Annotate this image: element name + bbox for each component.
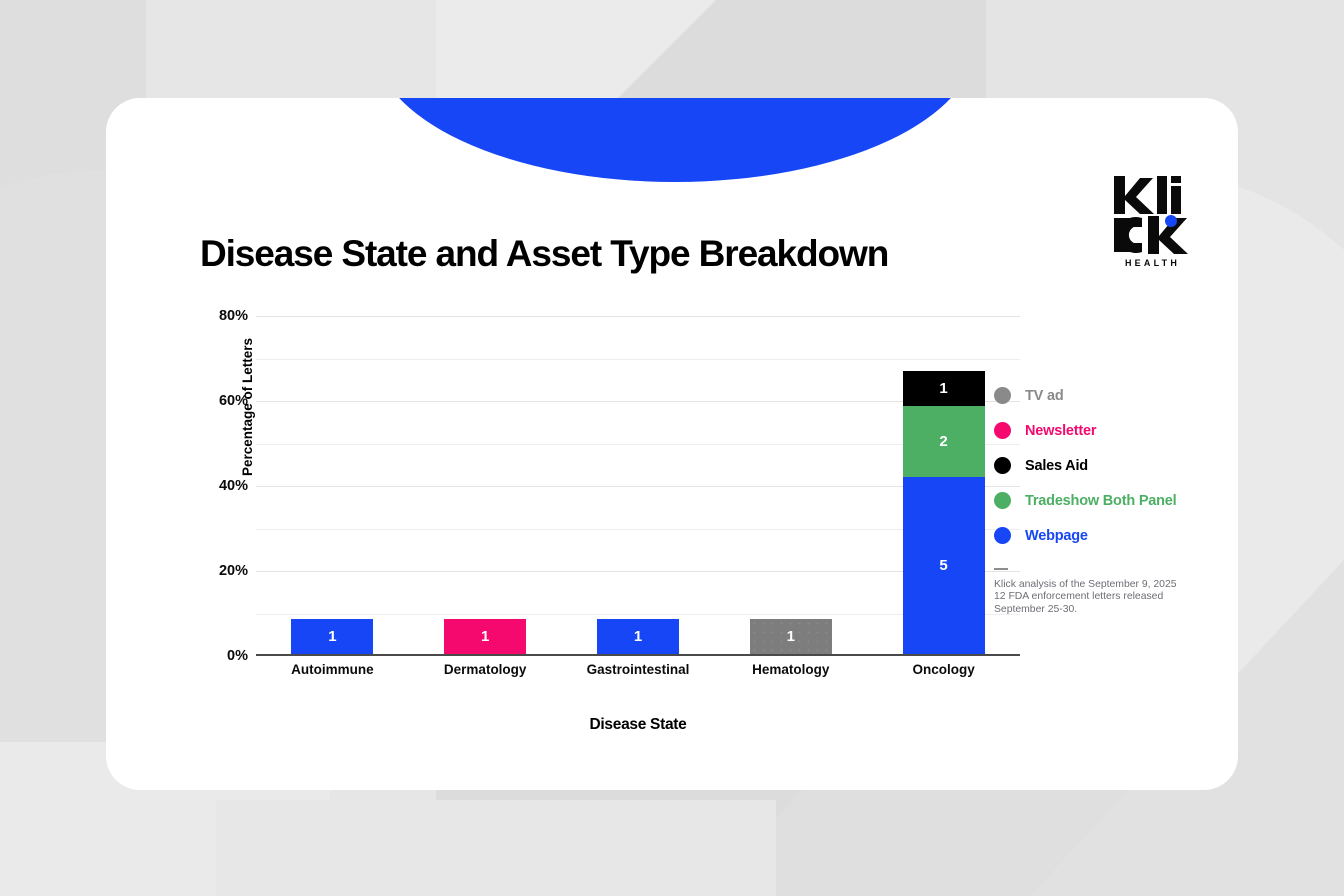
legend-item[interactable]: Newsletter <box>994 413 1224 448</box>
footnote-line: 12 FDA enforcement letters released <box>994 591 1224 604</box>
klick-logo-icon <box>1114 176 1188 254</box>
bar-value-label: 2 <box>939 433 947 450</box>
bar-segment[interactable]: 1 <box>597 619 679 654</box>
bar-series: 1111125 <box>256 316 1020 654</box>
legend-label: Tradeshow Both Panel <box>1025 493 1177 509</box>
footnote-line: Klick analysis of the September 9, 2025 <box>994 579 1224 592</box>
legend-item[interactable]: Sales Aid <box>994 448 1224 483</box>
legend-item[interactable]: TV ad <box>994 378 1224 413</box>
bar-stack[interactable]: 125 <box>903 371 985 654</box>
page-title: Disease State and Asset Type Breakdown <box>200 233 888 275</box>
x-axis-label: Disease State <box>256 716 1020 734</box>
bar-value-label: 1 <box>634 628 642 645</box>
x-tick-label: Hematology <box>714 662 867 677</box>
bar-stack[interactable]: 1 <box>750 619 832 654</box>
legend-label: Webpage <box>1025 528 1088 544</box>
legend-label: Newsletter <box>1025 423 1096 439</box>
plot-area: 1111125 <box>256 316 1020 656</box>
bar-value-label: 1 <box>481 628 489 645</box>
legend-item[interactable]: Tradeshow Both Panel <box>994 483 1224 518</box>
chart-container: Percentage of Letters 0%20%40%60%80% 111… <box>200 316 1020 776</box>
footnote: Klick analysis of the September 9, 20251… <box>994 568 1224 617</box>
bar-segment[interactable]: 1 <box>291 619 373 654</box>
bar-value-label: 1 <box>939 380 947 397</box>
bar-segment[interactable]: 2 <box>903 406 985 477</box>
bar-segment[interactable]: 1 <box>444 619 526 654</box>
bar-value-label: 1 <box>328 628 336 645</box>
legend-label: TV ad <box>1025 388 1063 404</box>
bar-column: 1 <box>256 316 409 654</box>
legend-color-swatch-icon <box>994 527 1011 544</box>
bar-column: 1 <box>714 316 867 654</box>
chart-card: HEALTH Disease State and Asset Type Brea… <box>106 98 1238 790</box>
bar-value-label: 1 <box>787 628 795 645</box>
legend-color-swatch-icon <box>994 422 1011 439</box>
bar-segment[interactable]: 1 <box>903 371 985 406</box>
x-axis-baseline <box>256 654 1020 656</box>
legend-color-swatch-icon <box>994 387 1011 404</box>
logo-tagline: HEALTH <box>1114 258 1188 268</box>
x-tick-label: Gastrointestinal <box>562 662 715 677</box>
footnote-line: September 25-30. <box>994 604 1224 617</box>
footnote-text: Klick analysis of the September 9, 20251… <box>994 579 1224 617</box>
y-tick-label: 60% <box>219 393 248 409</box>
chart-legend: TV adNewsletterSales AidTradeshow Both P… <box>994 378 1224 553</box>
bar-column: 1 <box>562 316 715 654</box>
legend-color-swatch-icon <box>994 492 1011 509</box>
klick-health-logo: HEALTH <box>1114 176 1188 254</box>
x-tick-label: Oncology <box>867 662 1020 677</box>
x-tick-label: Dermatology <box>409 662 562 677</box>
legend-color-swatch-icon <box>994 457 1011 474</box>
y-tick-label: 40% <box>219 478 248 494</box>
bar-segment[interactable]: 1 <box>750 619 832 654</box>
bar-stack[interactable]: 1 <box>291 619 373 654</box>
y-tick-label: 0% <box>227 648 248 664</box>
x-axis-ticks: AutoimmuneDermatologyGastrointestinalHem… <box>256 662 1020 677</box>
y-tick-label: 80% <box>219 308 248 324</box>
legend-item[interactable]: Webpage <box>994 518 1224 553</box>
y-axis-ticks: 0%20%40%60%80% <box>200 316 248 656</box>
bar-stack[interactable]: 1 <box>444 619 526 654</box>
bar-stack[interactable]: 1 <box>597 619 679 654</box>
bar-column: 1 <box>409 316 562 654</box>
bar-value-label: 5 <box>939 557 947 574</box>
logo-wordmark: HEALTH <box>1114 176 1188 254</box>
y-tick-label: 20% <box>219 563 248 579</box>
blue-arc-decoration <box>374 98 976 182</box>
legend-label: Sales Aid <box>1025 458 1088 474</box>
bar-segment[interactable]: 5 <box>903 477 985 654</box>
footnote-rule <box>994 568 1008 570</box>
x-tick-label: Autoimmune <box>256 662 409 677</box>
